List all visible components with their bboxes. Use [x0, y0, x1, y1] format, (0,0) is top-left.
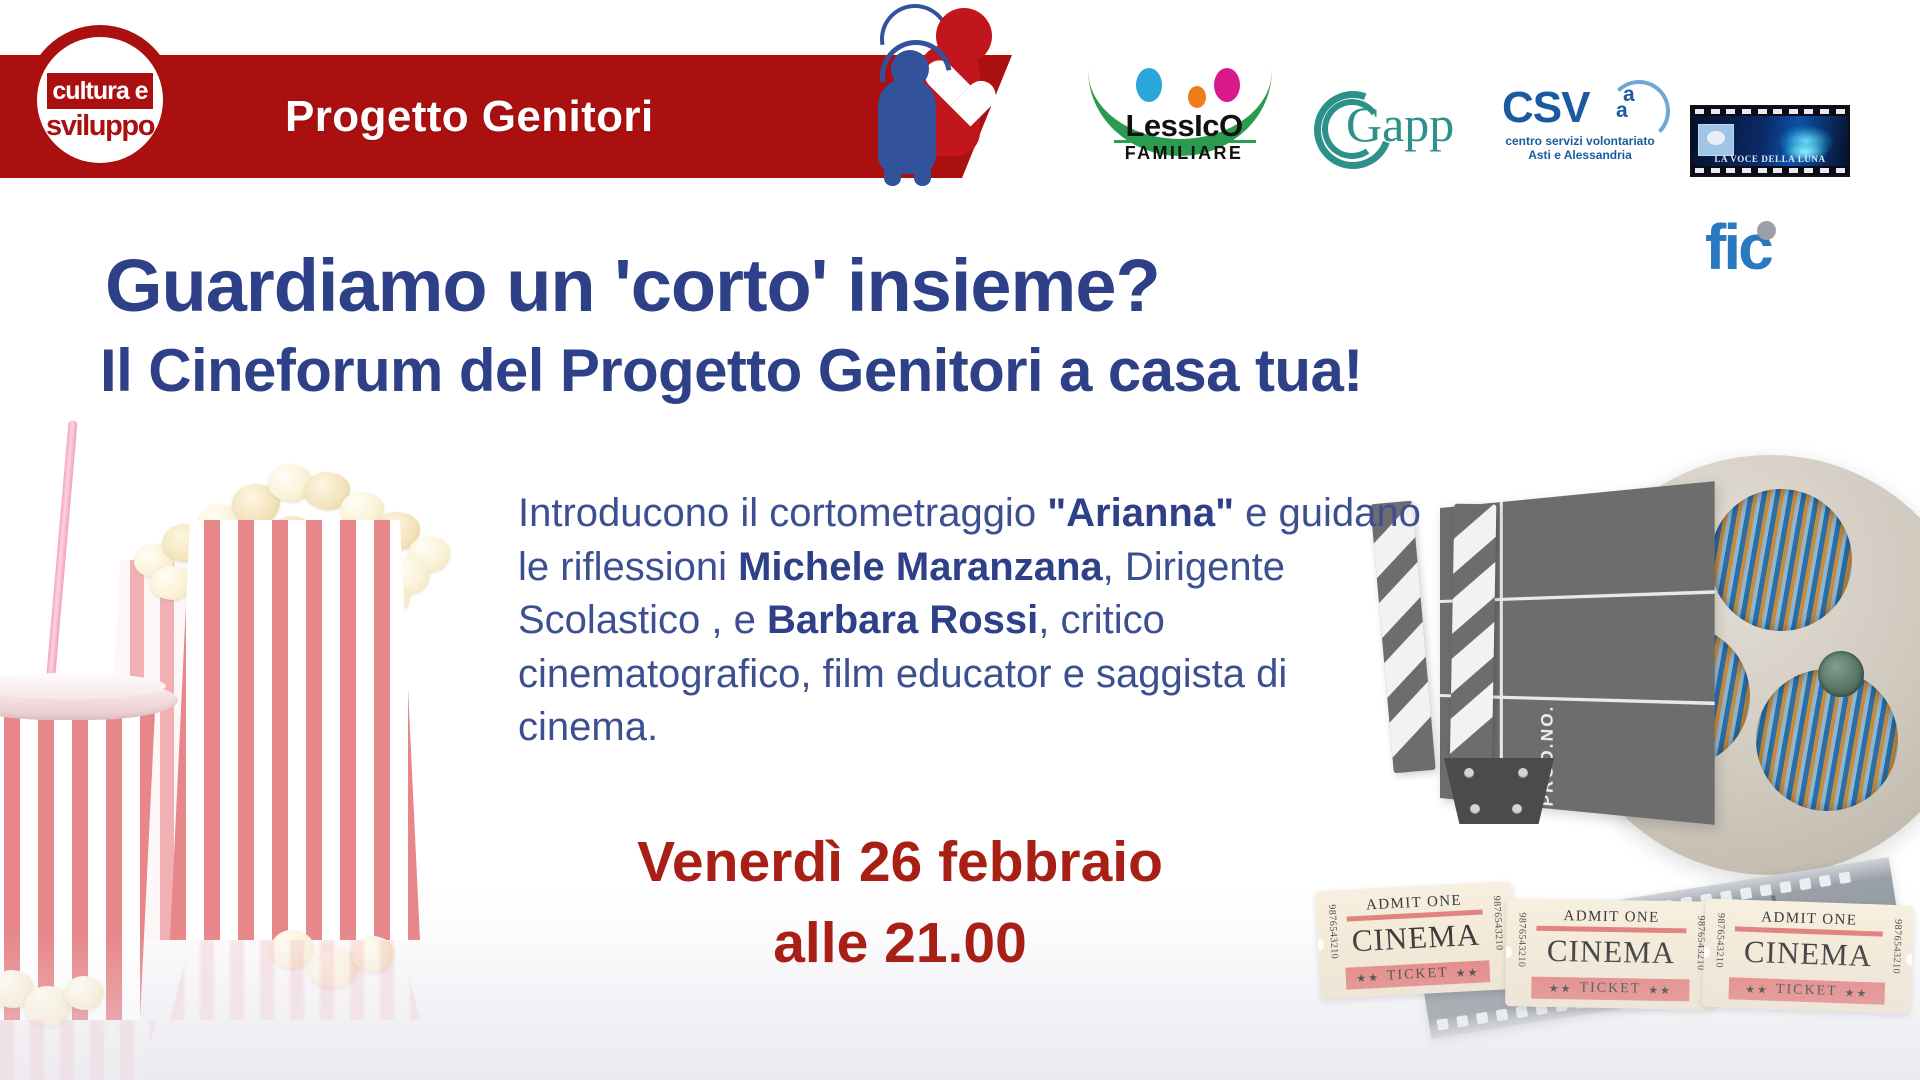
header-title: Progetto Genitori [285, 55, 845, 178]
logo-csv-main: CSV [1502, 86, 1589, 130]
desc-speaker-2: Barbara Rossi [767, 598, 1038, 642]
logo-luna-caption: LA VOCE DELLA LUNA [1692, 154, 1848, 164]
event-time: alle 21.00 [400, 903, 1400, 984]
figure-magenta-icon [1214, 68, 1240, 102]
film-perforation-top [1692, 107, 1848, 116]
event-date: Venerdì 26 febbraio [400, 822, 1400, 903]
event-datetime: Venerdì 26 febbraio alle 21.00 [400, 822, 1400, 984]
clapper-stick-lower [1450, 504, 1497, 775]
logo-csv-sup-2: a [1616, 100, 1628, 121]
poster-canvas: ROLL TAKE SCENE PROD.NO. [0, 0, 1920, 1080]
fic-dot-icon [1757, 221, 1776, 240]
logo-gapp-text: Gapp [1346, 99, 1454, 149]
logo-cultura-e-sviluppo[interactable]: cultura e sviluppo [25, 25, 175, 175]
logo-csv-subline-1: centro servizi volontariato [1490, 134, 1670, 149]
logo-lessico-word: LessIcO [1108, 110, 1260, 141]
logo-line-cultura: cultura e [52, 79, 147, 104]
headline-secondary: Il Cineforum del Progetto Genitori a cas… [100, 340, 1600, 401]
logo-csv[interactable]: CSV a a centro servizi volontariato Asti… [1490, 78, 1670, 170]
figure-blue-icon [1136, 68, 1162, 102]
family-heart-icon [862, 0, 1014, 178]
logo-line-sviluppo: sviluppo [45, 109, 155, 143]
popcorn-box-front [170, 520, 420, 940]
film-perforation-bottom [1692, 166, 1848, 175]
drinking-straw [43, 420, 77, 710]
logo-lessico-subtitle: FAMILIARE [1108, 144, 1260, 162]
clapper-hinge [1444, 758, 1554, 824]
desc-film-title: "Arianna" [1047, 491, 1234, 535]
logo-la-voce-della-luna[interactable]: LA VOCE DELLA LUNA [1690, 105, 1850, 177]
logo-cultura-box: cultura e [47, 73, 153, 109]
headline-primary: Guardiamo un 'corto' insieme? [105, 248, 1545, 323]
description-paragraph: Introducono il cortometraggio "Arianna" … [518, 487, 1438, 755]
logo-fic[interactable]: fic [1705, 215, 1835, 295]
logo-csv-subline-2: Asti e Alessandria [1490, 148, 1670, 163]
luna-head-icon [1698, 124, 1734, 156]
figure-orange-icon [1188, 86, 1206, 108]
luna-backdrop: LA VOCE DELLA LUNA [1692, 116, 1848, 166]
ticket-admit-label: ADMIT ONE [1540, 908, 1682, 927]
desc-seg-1: Introducono il cortometraggio [518, 491, 1047, 535]
logo-lessico-familiare[interactable]: LessIcO FAMILIARE [1080, 48, 1280, 168]
reel-hub [1818, 651, 1864, 697]
logo-gapp[interactable]: Gapp [1314, 85, 1464, 165]
desc-speaker-1: Michele Maranzana [738, 545, 1103, 589]
